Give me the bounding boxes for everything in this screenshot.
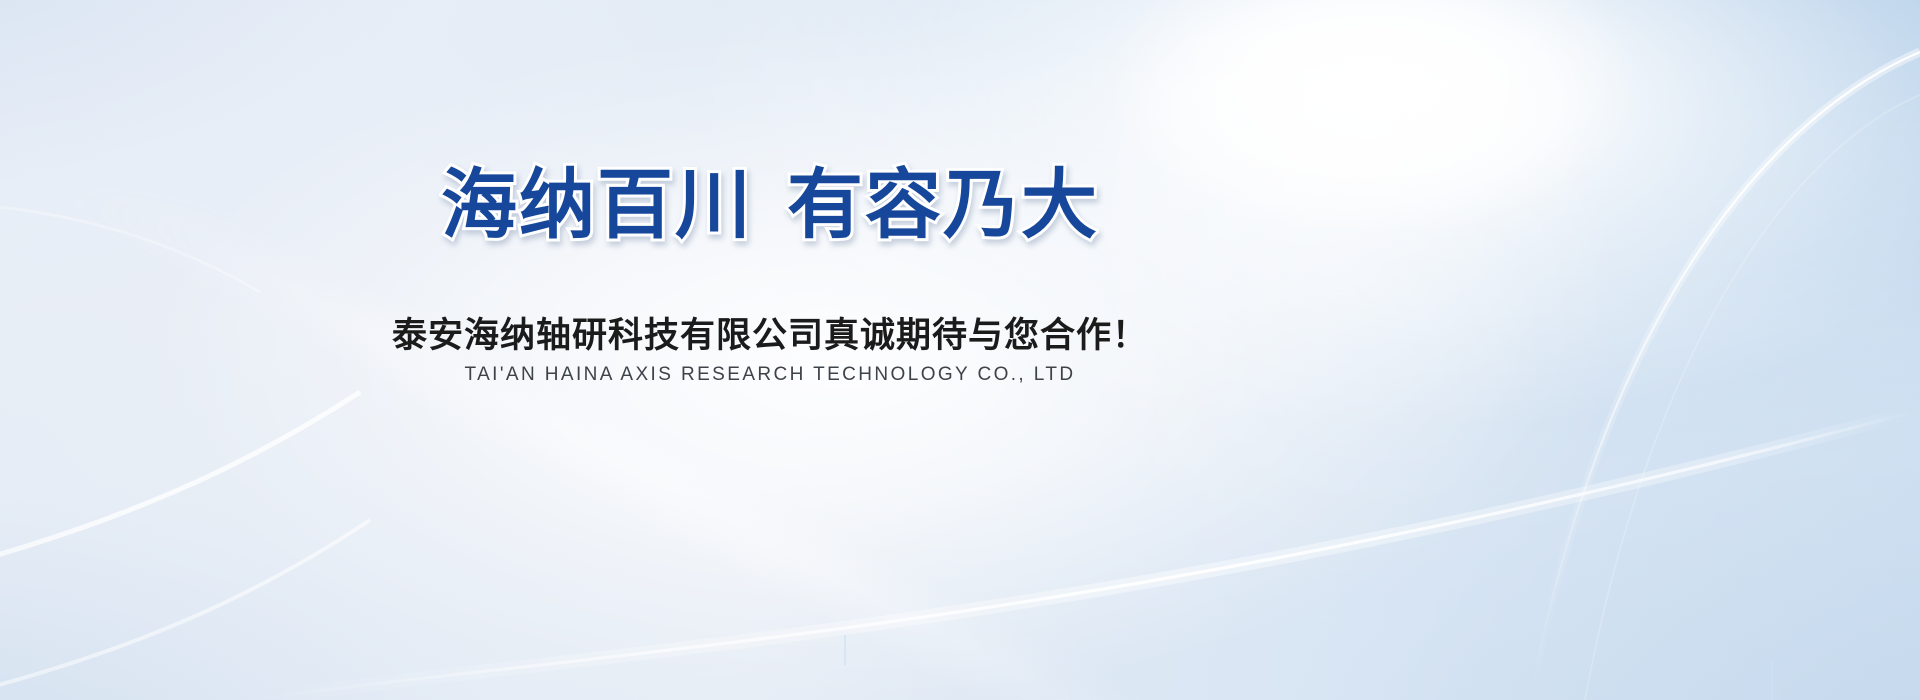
hero-banner: 海纳百川有容乃大 泰安海纳轴研科技有限公司真诚期待与您合作！ TAI'AN HA… — [0, 0, 1920, 700]
banner-headline: 海纳百川有容乃大 — [0, 168, 1540, 244]
banner-subtitle-chinese: 泰安海纳轴研科技有限公司真诚期待与您合作！ — [0, 313, 1540, 359]
banner-content: 海纳百川有容乃大 泰安海纳轴研科技有限公司真诚期待与您合作！ TAI'AN HA… — [0, 0, 1920, 700]
headline-part-2: 有容乃大 — [787, 163, 1099, 248]
banner-subtitle-english: TAI'AN HAINA AXIS RESEARCH TECHNOLOGY CO… — [0, 362, 1540, 389]
headline-part-1: 海纳百川 — [441, 163, 753, 248]
